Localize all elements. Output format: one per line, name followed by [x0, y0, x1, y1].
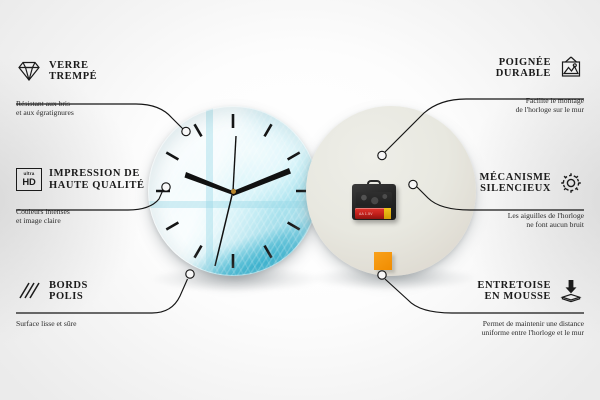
callout-impression-haute-qualite: ultra HD IMPRESSION DEHAUTE QUALITÉ Coul…	[16, 168, 176, 226]
polished-edges-icon	[16, 278, 42, 304]
callout-title: MÉCANISMESILENCIEUX	[480, 172, 551, 195]
callout-verre-trempe: VERRETREMPÉ Résistant aux briset aux égr…	[16, 58, 176, 118]
callout-bords-polis: BORDSPOLIS Surface lisse et sûre	[16, 278, 186, 328]
press-down-layers-icon	[558, 278, 584, 304]
product-infographic: AA 1.5V	[0, 0, 600, 400]
callout-title: POIGNÉEDURABLE	[496, 57, 551, 80]
picture-hanger-icon	[558, 55, 584, 81]
callout-desc: Couleurs intenseset image claire	[16, 204, 176, 226]
gear-icon	[558, 170, 584, 196]
diamond-icon	[16, 58, 42, 84]
callout-title: VERRETREMPÉ	[49, 60, 97, 83]
callout-desc: Permet de maintenir une distanceuniforme…	[334, 316, 584, 338]
callout-desc: Résistant aux briset aux égratignures	[16, 96, 176, 118]
callout-desc: Facilite le montagede l'horloge sur le m…	[374, 93, 584, 115]
callout-title: ENTRETOISEEN MOUSSE	[477, 280, 551, 303]
callout-entretoise-en-mousse: ENTRETOISEEN MOUSSE Permet de maintenir …	[334, 278, 584, 338]
callout-desc: Les aiguilles de l'horlogene font aucun …	[364, 208, 584, 230]
callout-mecanisme-silencieux: MÉCANISMESILENCIEUX Les aiguilles de l'h…	[364, 170, 584, 230]
callout-title: IMPRESSION DEHAUTE QUALITÉ	[49, 168, 145, 191]
callout-title: BORDSPOLIS	[49, 280, 88, 303]
ultra-hd-icon: ultra HD	[16, 168, 42, 191]
callout-desc: Surface lisse et sûre	[16, 316, 186, 328]
callout-poignee-durable: POIGNÉEDURABLE Facilite le montagede l'h…	[374, 55, 584, 115]
